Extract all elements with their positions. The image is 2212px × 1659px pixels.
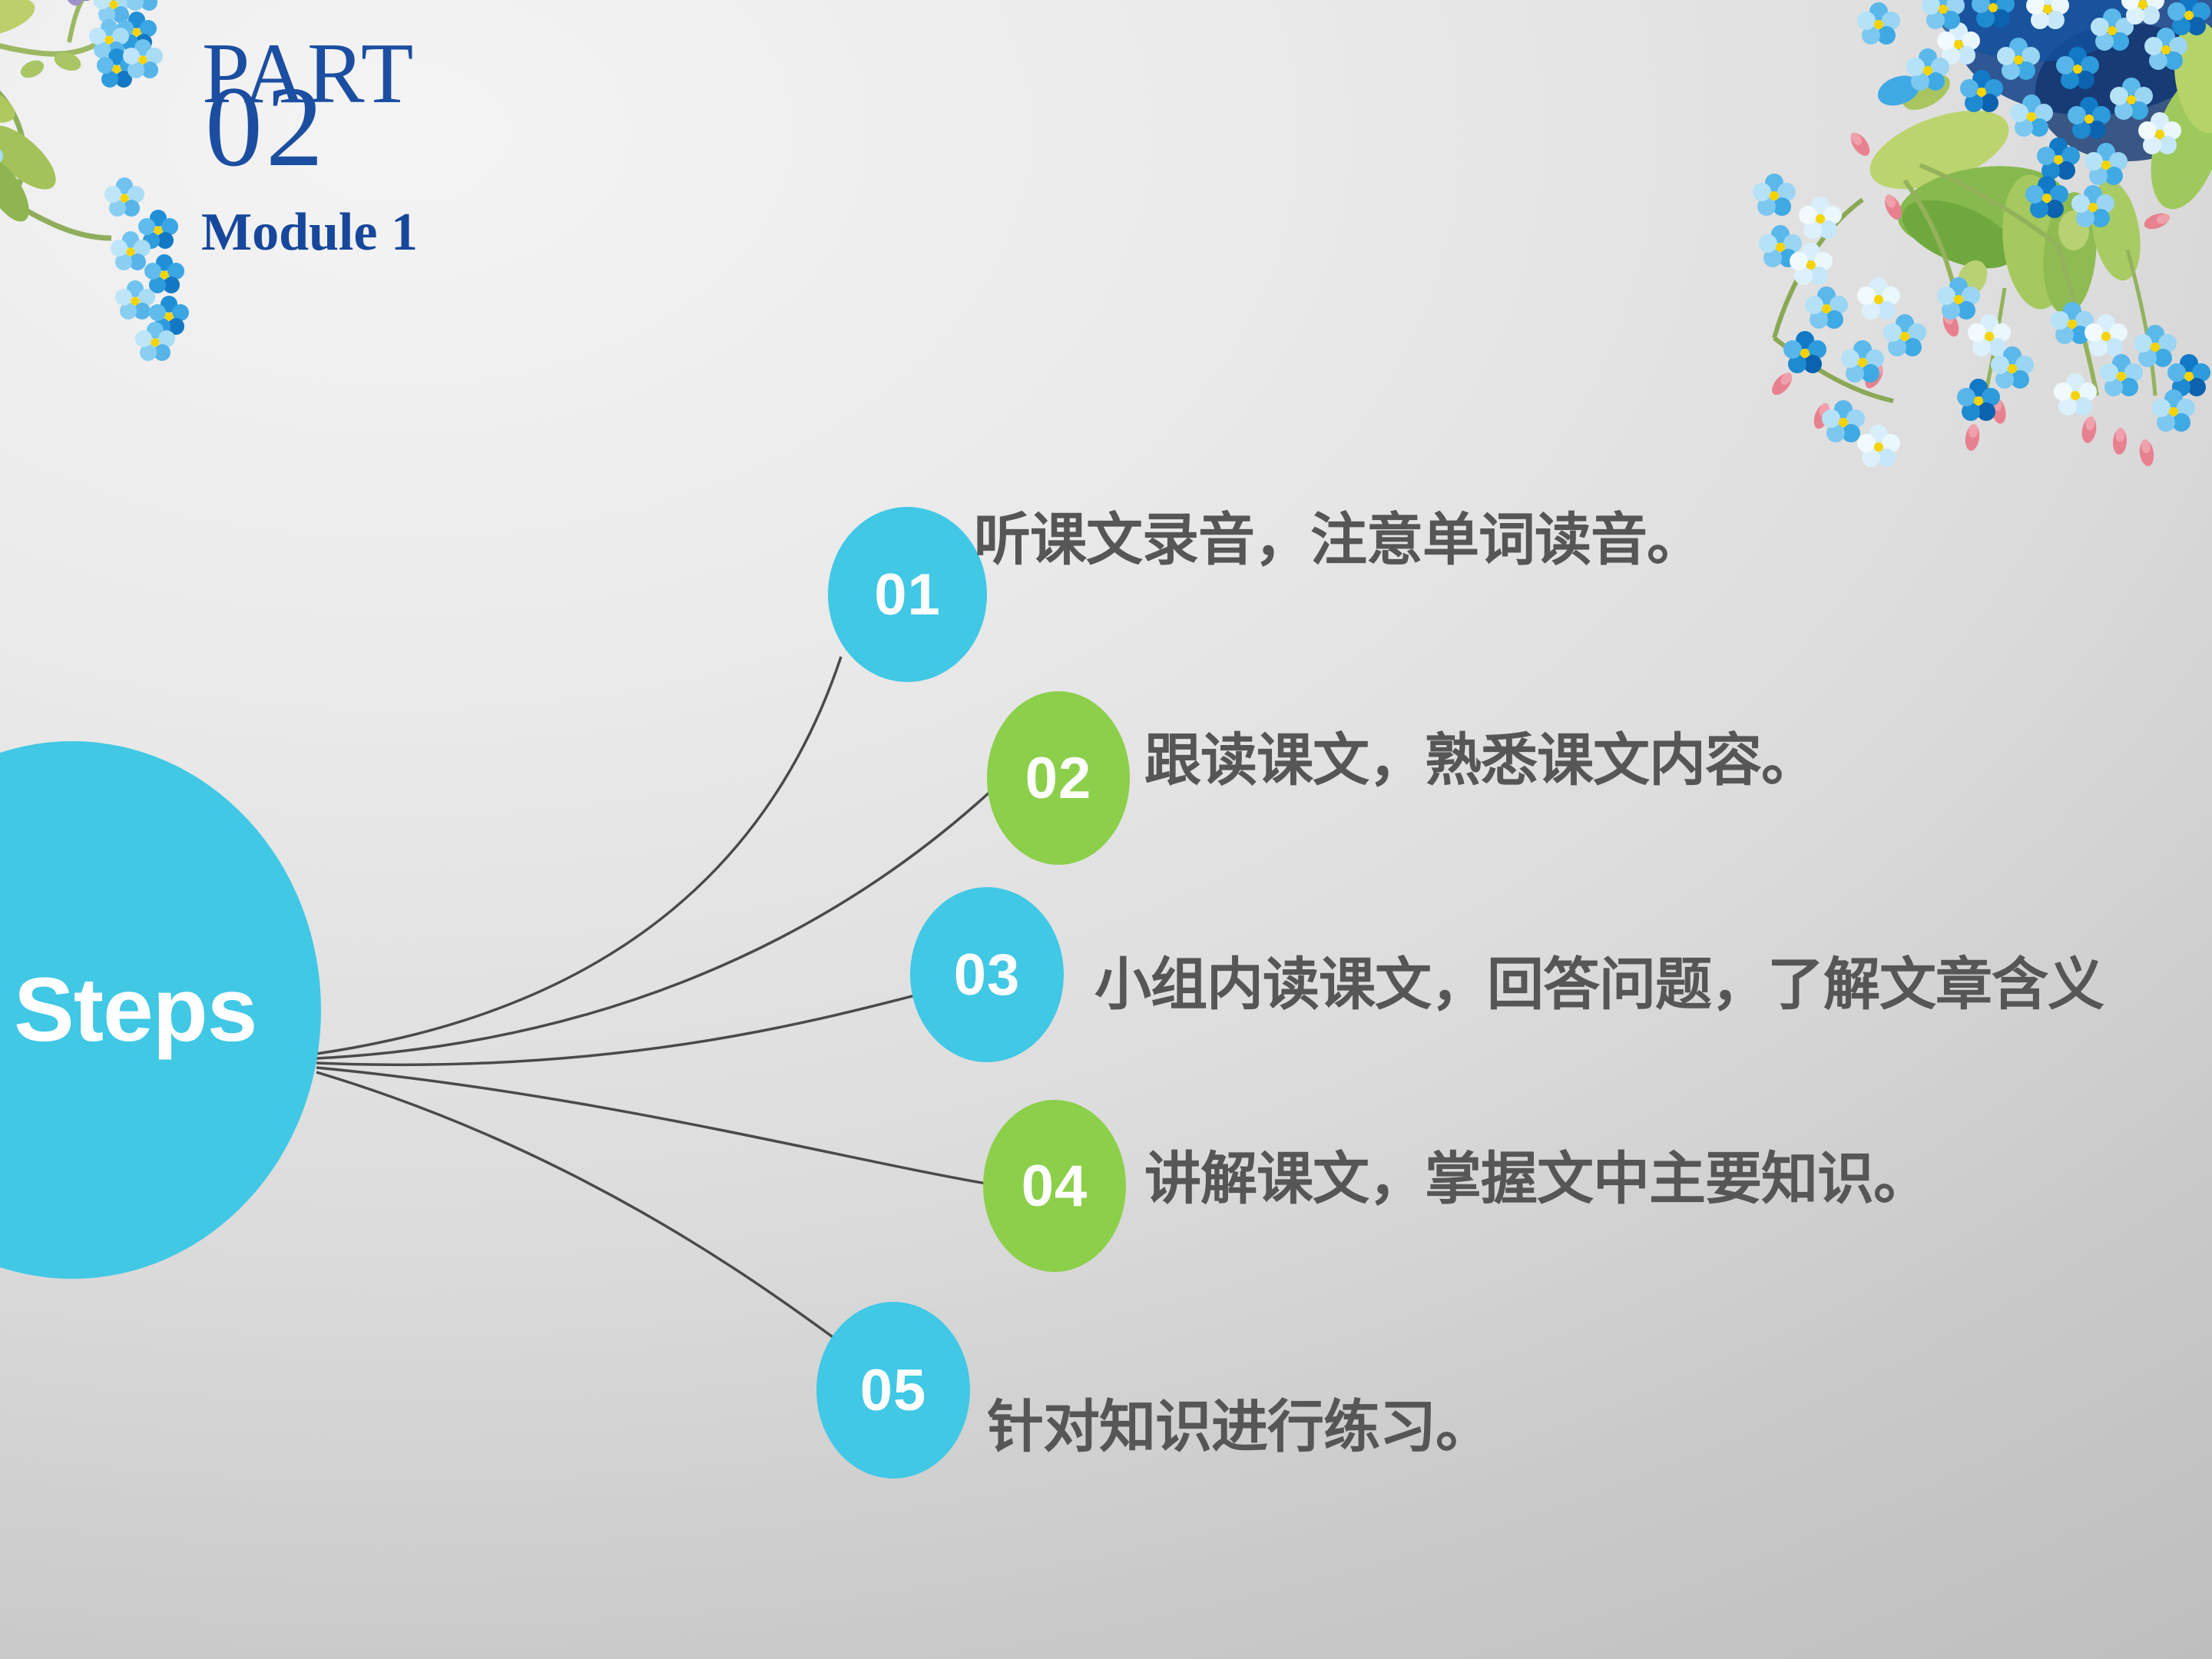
connector-line-05: [316, 1072, 837, 1340]
forget-me-not-flowers-top-right-icon: [1728, 0, 2212, 561]
connector-line-04: [316, 1068, 991, 1184]
step-text-04: 讲解课文，掌握文中主要知识。: [1144, 1148, 1929, 1210]
step-node-number: 03: [954, 942, 1021, 1008]
step-node-number: 01: [874, 561, 941, 628]
step-node-04[interactable]: 04: [983, 1100, 1126, 1272]
connector-line-01: [316, 657, 841, 1054]
connector-line-03: [316, 991, 933, 1065]
part-number: 02: [205, 69, 326, 184]
step-text-05: 针对知识进行练习。: [987, 1396, 1492, 1458]
step-text-01: 听课文录音，注意单词读音。: [974, 509, 1703, 571]
steps-hub-label: Steps: [0, 741, 321, 1279]
slide-canvas: PART 02 Module 1 Steps 01 听课文录音，注意单词读音。 …: [0, 0, 2212, 1659]
connector-line-02: [316, 791, 991, 1058]
step-node-number: 02: [1025, 745, 1092, 812]
step-node-03[interactable]: 03: [910, 887, 1064, 1062]
step-text-03: 小组内读课文，回答问题，了解文章含义: [1094, 954, 2104, 1015]
part-heading: PART 02: [196, 22, 595, 221]
step-node-05[interactable]: 05: [816, 1302, 970, 1479]
steps-hub: Steps: [0, 741, 321, 1279]
step-node-number: 04: [1022, 1153, 1088, 1220]
step-node-01[interactable]: 01: [828, 507, 987, 682]
step-node-number: 05: [860, 1357, 927, 1424]
module-label: Module 1: [201, 206, 418, 260]
step-text-02: 跟读课文，熟悉课文内容。: [1144, 730, 1817, 791]
step-node-02[interactable]: 02: [987, 691, 1130, 865]
